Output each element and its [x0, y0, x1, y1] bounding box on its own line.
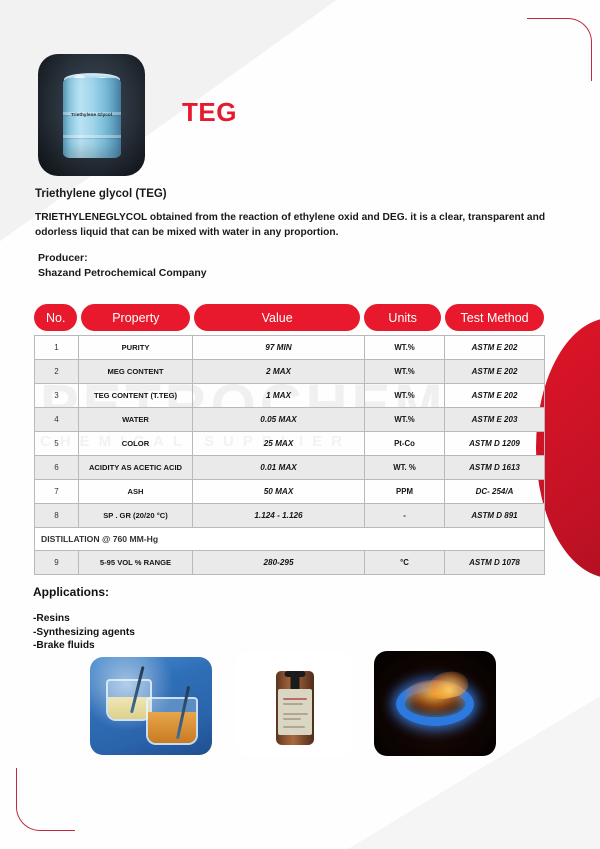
column-header-units: Units — [364, 304, 441, 331]
datasheet-page: PETROCHEM CHEMICAL SUPPLIER Triethylene … — [0, 0, 600, 849]
cell-property: 5-95 VOL % RANGE — [79, 551, 193, 575]
cell-value: 0.05 MAX — [193, 408, 365, 432]
intro-section: Triethylene glycol (TEG) TRIETHYLENEGLYC… — [35, 188, 575, 279]
table-header-row: No. Property Value Units Test Method — [34, 304, 544, 331]
cell-property: TEG CONTENT (T.TEG) — [79, 384, 193, 408]
cell-value: 0.01 MAX — [193, 456, 365, 480]
application-photos — [0, 651, 600, 756]
label-line — [283, 718, 301, 720]
page-title: Triethylene glycol (TEG) — [35, 188, 575, 200]
cell-test-method: ASTM D 1078 — [445, 551, 545, 575]
table-row: 2 MEG CONTENT 2 MAX WT.% ASTM E 202 — [35, 360, 545, 384]
cell-test-method: ASTM D 1209 — [445, 432, 545, 456]
cell-value: 280-295 — [193, 551, 365, 575]
pump-head — [285, 671, 306, 677]
cell-property: COLOR — [79, 432, 193, 456]
cell-units: WT.% — [365, 360, 445, 384]
table-row: 4 WATER 0.05 MAX WT.% ASTM E 203 — [35, 408, 545, 432]
column-header-property: Property — [81, 304, 190, 331]
cell-test-method: ASTM D 891 — [445, 504, 545, 528]
table-row: 3 TEG CONTENT (T.TEG) 1 MAX WT.% ASTM E … — [35, 384, 545, 408]
product-code: TEG — [182, 97, 237, 128]
brake-fluid-bottle-photo — [236, 651, 354, 756]
specification-table: No. Property Value Units Test Method 1 P… — [34, 304, 544, 575]
cell-units: WT.% — [365, 384, 445, 408]
list-item: -Resins — [33, 612, 135, 626]
cell-units: - — [365, 504, 445, 528]
cell-test-method: ASTM E 202 — [445, 336, 545, 360]
cell-property: PURITY — [79, 336, 193, 360]
teg-drum-image: Triethylene Glycol — [38, 54, 145, 176]
beaker-icon — [146, 697, 198, 745]
cell-test-method: DC- 254/A — [445, 480, 545, 504]
drum-body — [63, 78, 121, 158]
resin-beakers-photo — [90, 657, 212, 755]
cell-property: WATER — [79, 408, 193, 432]
applications-title: Applications: — [33, 585, 135, 599]
product-description: TRIETHYLENEGLYCOL obtained from the reac… — [35, 211, 569, 240]
applications-list: -Resins -Synthesizing agents -Brake flui… — [33, 612, 135, 653]
cell-value: 2 MAX — [193, 360, 365, 384]
drum-rib — [63, 135, 121, 138]
red-circle-decoration — [536, 318, 600, 578]
producer-name: Shazand Petrochemical Company — [35, 267, 575, 279]
page-header: Triethylene Glycol TEG — [0, 0, 600, 190]
cell-units: PPM — [365, 480, 445, 504]
spec-table-body: 1 PURITY 97 MIN WT.% ASTM E 202 2 MEG CO… — [34, 335, 545, 575]
spec-table-rows: 1 PURITY 97 MIN WT.% ASTM E 202 2 MEG CO… — [35, 336, 545, 575]
table-row: 6 ACIDITY AS ACETIC ACID 0.01 MAX WT. % … — [35, 456, 545, 480]
cell-test-method: ASTM E 202 — [445, 384, 545, 408]
cell-property: SP . GR (20/20 °C) — [79, 504, 193, 528]
cell-property: ASH — [79, 480, 193, 504]
drum-label-text: Triethylene Glycol — [63, 112, 121, 117]
section-label-distillation: DISTILLATION @ 760 MM-Hg — [35, 528, 545, 551]
bottle-icon — [276, 671, 314, 745]
producer-label: Producer: — [35, 252, 575, 264]
drum-icon: Triethylene Glycol — [63, 71, 121, 159]
cell-value: 1.124 - 1.126 — [193, 504, 365, 528]
cell-no: 3 — [35, 384, 79, 408]
column-header-value: Value — [194, 304, 360, 331]
bottle-label — [278, 689, 312, 735]
gas-flame-photo — [374, 651, 496, 756]
table-row: 5 COLOR 25 MAX Pt-Co ASTM D 1209 — [35, 432, 545, 456]
corner-accent-bottom-left — [16, 768, 75, 831]
cell-no: 6 — [35, 456, 79, 480]
cell-units: Pt-Co — [365, 432, 445, 456]
cell-no: 2 — [35, 360, 79, 384]
label-line — [283, 703, 303, 705]
cell-value: 97 MIN — [193, 336, 365, 360]
cell-test-method: ASTM E 202 — [445, 360, 545, 384]
cell-property: MEG CONTENT — [79, 360, 193, 384]
table-row: 8 SP . GR (20/20 °C) 1.124 - 1.126 - AST… — [35, 504, 545, 528]
cell-units: WT.% — [365, 336, 445, 360]
cell-test-method: ASTM D 1613 — [445, 456, 545, 480]
column-header-test-method: Test Method — [445, 304, 544, 331]
cell-value: 1 MAX — [193, 384, 365, 408]
table-row: 7 ASH 50 MAX PPM DC- 254/A — [35, 480, 545, 504]
label-line — [283, 726, 305, 728]
cell-units: °C — [365, 551, 445, 575]
cell-no: 8 — [35, 504, 79, 528]
cell-value: 50 MAX — [193, 480, 365, 504]
cell-no: 9 — [35, 551, 79, 575]
applications-section: Applications: -Resins -Synthesizing agen… — [33, 585, 135, 653]
table-row: 9 5-95 VOL % RANGE 280-295 °C ASTM D 107… — [35, 551, 545, 575]
cell-no: 5 — [35, 432, 79, 456]
list-item: -Synthesizing agents — [33, 626, 135, 640]
cell-units: WT. % — [365, 456, 445, 480]
cell-no: 1 — [35, 336, 79, 360]
column-header-no: No. — [34, 304, 77, 331]
cell-units: WT.% — [365, 408, 445, 432]
cell-property: ACIDITY AS ACETIC ACID — [79, 456, 193, 480]
cell-test-method: ASTM E 203 — [445, 408, 545, 432]
cell-value: 25 MAX — [193, 432, 365, 456]
table-row: 1 PURITY 97 MIN WT.% ASTM E 202 — [35, 336, 545, 360]
label-line — [283, 698, 307, 700]
table-section-header-row: DISTILLATION @ 760 MM-Hg — [35, 528, 545, 551]
label-line — [283, 713, 308, 715]
cell-no: 7 — [35, 480, 79, 504]
cell-no: 4 — [35, 408, 79, 432]
